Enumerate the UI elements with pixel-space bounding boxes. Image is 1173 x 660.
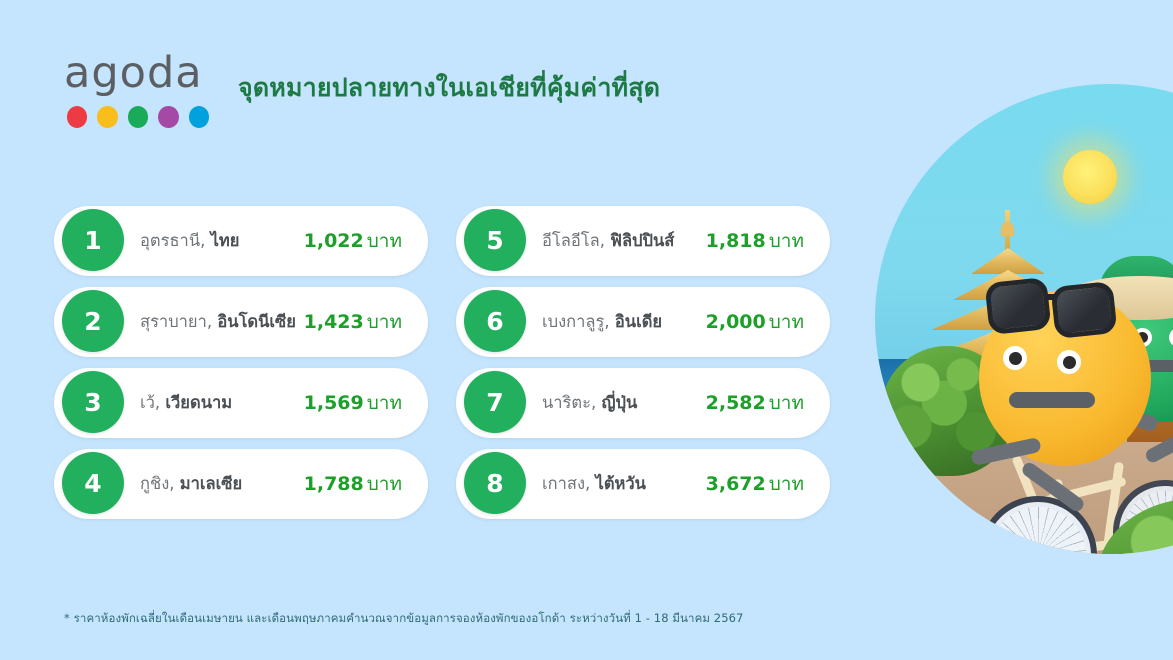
- price-currency: บาท: [769, 392, 804, 414]
- mascot-green-eye: [1133, 328, 1152, 347]
- logo-dot-red: [67, 106, 87, 128]
- mascot-leg: [1144, 421, 1173, 464]
- logo-wordmark: agoda: [64, 52, 209, 95]
- rank-badge: 6: [464, 290, 526, 352]
- destination-row[interactable]: 3เว้, เวียดนาม1,569บาท: [54, 368, 428, 438]
- bush-graphic: [881, 346, 1013, 476]
- city-label: นาริตะ,: [542, 393, 601, 412]
- mascot-arm: [970, 437, 1042, 466]
- mascot-orange: [979, 290, 1151, 466]
- destination-name: นาริตะ, ญี่ปุ่น: [542, 390, 637, 416]
- mascot-green-mouth: [1137, 360, 1173, 372]
- mascot-orange-eye: [1003, 346, 1027, 370]
- price: 2,000บาท: [706, 307, 804, 337]
- country-label: ไต้หวัน: [596, 474, 646, 493]
- price: 1,423บาท: [304, 307, 402, 337]
- destination-row[interactable]: 4กูชิง, มาเลเซีย1,788บาท: [54, 449, 428, 519]
- rank-badge: 3: [62, 371, 124, 433]
- destination-list: 1อุตรธานี, ไทย1,022บาท5อีโลอีโล, ฟิลิปปิ…: [54, 206, 830, 519]
- bush-graphic: [1097, 498, 1173, 554]
- logo-dot-green: [128, 106, 148, 128]
- price: 3,672บาท: [706, 469, 804, 499]
- price-currency: บาท: [367, 473, 402, 495]
- hill-shape: [1061, 336, 1171, 394]
- destination-row[interactable]: 7นาริตะ, ญี่ปุ่น2,582บาท: [456, 368, 830, 438]
- logo-dot-yellow: [97, 106, 117, 128]
- ground-shape: [875, 436, 1173, 554]
- city-label: เว้,: [140, 393, 165, 412]
- city-label: อุตรธานี,: [140, 231, 211, 250]
- price-amount: 1,569: [304, 392, 364, 414]
- destination-row[interactable]: 1อุตรธานี, ไทย1,022บาท: [54, 206, 428, 276]
- sunglasses-bridge: [1045, 294, 1061, 300]
- destination-name: เบงกาลูรู, อินเดีย: [542, 309, 662, 335]
- price-amount: 1,788: [304, 473, 364, 495]
- destination-name: สุราบายา, อินโดนีเซีย: [140, 309, 296, 335]
- city-label: อีโลอีโล,: [542, 231, 610, 250]
- city-label: กูชิง,: [140, 474, 180, 493]
- rank-badge: 1: [62, 209, 124, 271]
- sun-icon: [1063, 150, 1117, 204]
- destination-name: กูชิง, มาเลเซีย: [140, 471, 242, 497]
- agoda-logo[interactable]: agoda: [64, 52, 209, 128]
- destination-row[interactable]: 6เบงกาลูรู, อินเดีย2,000บาท: [456, 287, 830, 357]
- logo-dot-blue: [189, 106, 209, 128]
- country-label: อินเดีย: [615, 312, 662, 331]
- city-label: เกาสง,: [542, 474, 596, 493]
- logo-dots: [64, 106, 209, 128]
- rank-badge: 7: [464, 371, 526, 433]
- footnote: * ราคาห้องพักเฉลี่ยในเดือนเมษายน และเดือ…: [64, 610, 743, 628]
- price: 1,569บาท: [304, 388, 402, 418]
- price-amount: 1,423: [304, 311, 364, 333]
- mascot-green-hat-brim: [1063, 276, 1173, 320]
- destination-name: เกาสง, ไต้หวัน: [542, 471, 646, 497]
- price-currency: บาท: [769, 230, 804, 252]
- price: 1,818บาท: [706, 226, 804, 256]
- price-currency: บาท: [769, 311, 804, 333]
- country-label: มาเลเซีย: [180, 474, 242, 493]
- country-label: อินโดนีเซีย: [217, 312, 296, 331]
- price-currency: บาท: [367, 392, 402, 414]
- mascot-orange-eye: [1057, 350, 1081, 374]
- page-title: จุดหมายปลายทางในเอเชียที่คุ้มค่าที่สุด: [238, 68, 660, 108]
- price-amount: 1,818: [706, 230, 766, 252]
- rank-badge: 4: [62, 452, 124, 514]
- mascot-orange-mouth: [1009, 392, 1095, 408]
- destination-row[interactable]: 8เกาสง, ไต้หวัน3,672บาท: [456, 449, 830, 519]
- price-currency: บาท: [769, 473, 804, 495]
- thai-temple-graphic: [897, 210, 1127, 460]
- price: 1,022บาท: [304, 226, 402, 256]
- country-label: เวียดนาม: [165, 393, 232, 412]
- mascot-leg: [1020, 460, 1086, 514]
- rank-badge: 5: [464, 209, 526, 271]
- infographic-canvas: agoda จุดหมายปลายทางในเอเชียที่คุ้มค่าที…: [0, 0, 1173, 660]
- mascot-green-eye: [1169, 328, 1173, 347]
- price: 1,788บาท: [304, 469, 402, 499]
- destination-row[interactable]: 2สุราบายา, อินโดนีเซีย1,423บาท: [54, 287, 428, 357]
- city-label: เบงกาลูรู,: [542, 312, 615, 331]
- sea-shape: [875, 359, 1173, 445]
- country-label: ฟิลิปปินส์: [610, 231, 674, 250]
- mascot-green-hat: [1099, 256, 1173, 300]
- bicycle-graphic: [985, 444, 1173, 554]
- header: agoda จุดหมายปลายทางในเอเชียที่คุ้มค่าที…: [0, 0, 900, 150]
- mascot-arm: [1081, 394, 1160, 432]
- sunglasses-icon: [1050, 281, 1117, 339]
- scene-circle: [875, 84, 1173, 554]
- city-label: สุราบายา,: [140, 312, 217, 331]
- chinese-pagoda-graphic: [1121, 252, 1173, 462]
- country-label: ญี่ปุ่น: [601, 393, 637, 412]
- logo-dot-purple: [158, 106, 178, 128]
- price: 2,582บาท: [706, 388, 804, 418]
- price-amount: 2,582: [706, 392, 766, 414]
- sunglasses-icon: [984, 277, 1051, 335]
- price-amount: 2,000: [706, 311, 766, 333]
- destination-row[interactable]: 5อีโลอีโล, ฟิลิปปินส์1,818บาท: [456, 206, 830, 276]
- rank-badge: 2: [62, 290, 124, 352]
- price-amount: 1,022: [304, 230, 364, 252]
- boat-icon: [1103, 375, 1160, 394]
- price-amount: 3,672: [706, 473, 766, 495]
- country-label: ไทย: [211, 231, 240, 250]
- destination-name: เว้, เวียดนาม: [140, 390, 232, 416]
- hill-shape: [969, 322, 1114, 392]
- rank-badge: 8: [464, 452, 526, 514]
- mascot-green: [1101, 290, 1173, 422]
- price-currency: บาท: [367, 311, 402, 333]
- price-currency: บาท: [367, 230, 402, 252]
- destination-name: อีโลอีโล, ฟิลิปปินส์: [542, 228, 674, 254]
- destination-name: อุตรธานี, ไทย: [140, 228, 239, 254]
